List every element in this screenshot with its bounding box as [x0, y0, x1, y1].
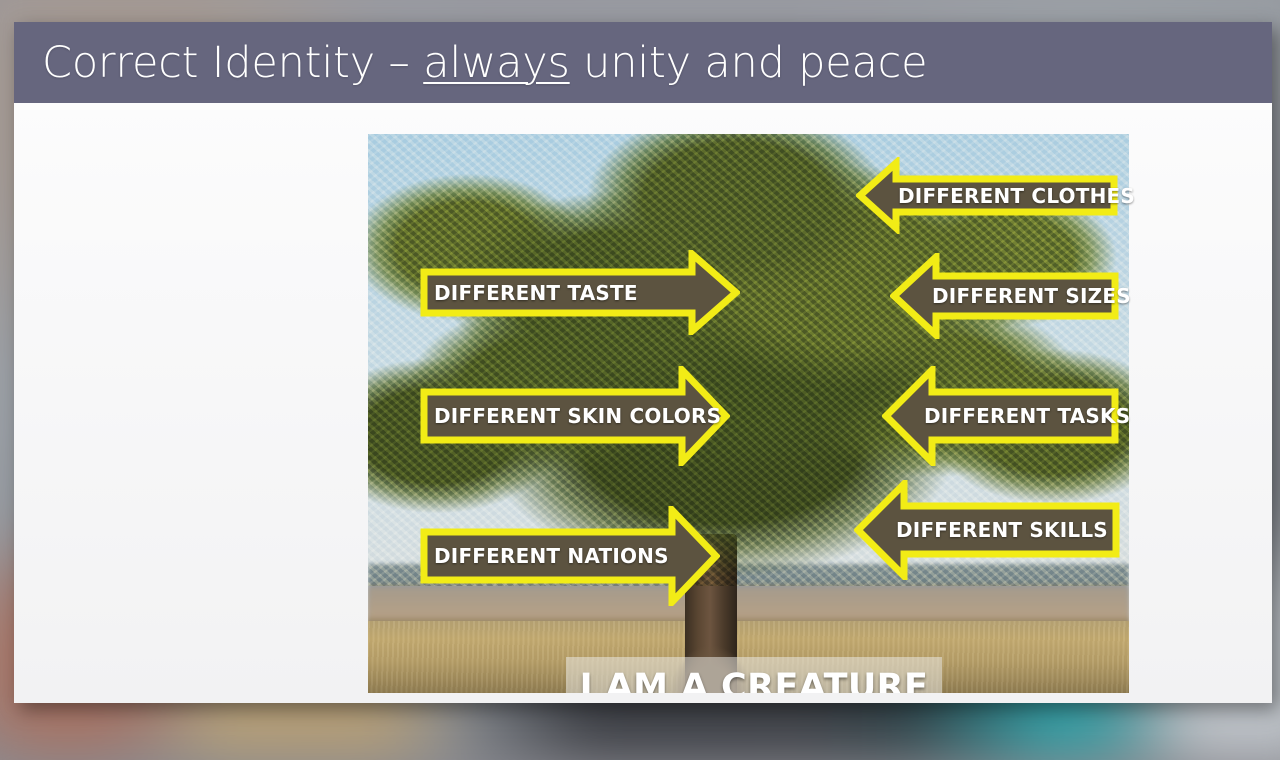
arrow-label: DIFFERENT CLOTHES	[856, 184, 1135, 208]
arrow-label: DIFFERENT TASKS	[882, 404, 1130, 428]
arrow-callout-different-taste[interactable]: DIFFERENT TASTE	[420, 250, 740, 335]
arrow-callout-different-nations[interactable]: DIFFERENT NATIONS	[420, 506, 720, 606]
image-caption-text: I AM A CREATURE	[580, 667, 929, 694]
title-text-after: unity and peace	[570, 38, 928, 88]
arrow-label: DIFFERENT SKILLS	[854, 518, 1108, 542]
arrow-callout-different-skills[interactable]: DIFFERENT SKILLS	[854, 480, 1120, 580]
arrow-callout-different-clothes[interactable]: DIFFERENT CLOTHES	[856, 157, 1118, 234]
arrow-callout-different-tasks[interactable]: DIFFERENT TASKS	[882, 366, 1119, 466]
arrow-label: DIFFERENT SKIN COLORS	[420, 404, 721, 428]
arrow-callout-different-sizes[interactable]: DIFFERENT SIZES	[890, 253, 1119, 339]
image-caption-band: I AM A CREATURE	[566, 657, 942, 693]
page-title: Correct Identity – always unity and peac…	[14, 38, 927, 88]
arrow-callout-different-skin-colors[interactable]: DIFFERENT SKIN COLORS	[420, 366, 730, 466]
arrow-label: DIFFERENT SIZES	[890, 284, 1131, 308]
arrow-label: DIFFERENT TASTE	[420, 281, 638, 305]
title-text-before: Correct Identity –	[42, 38, 423, 88]
slide-title-bar: Correct Identity – always unity and peac…	[14, 22, 1272, 103]
arrow-label: DIFFERENT NATIONS	[420, 544, 669, 568]
slide-canvas: Correct Identity – always unity and peac…	[14, 22, 1272, 703]
title-text-emphasis: always	[423, 38, 569, 88]
